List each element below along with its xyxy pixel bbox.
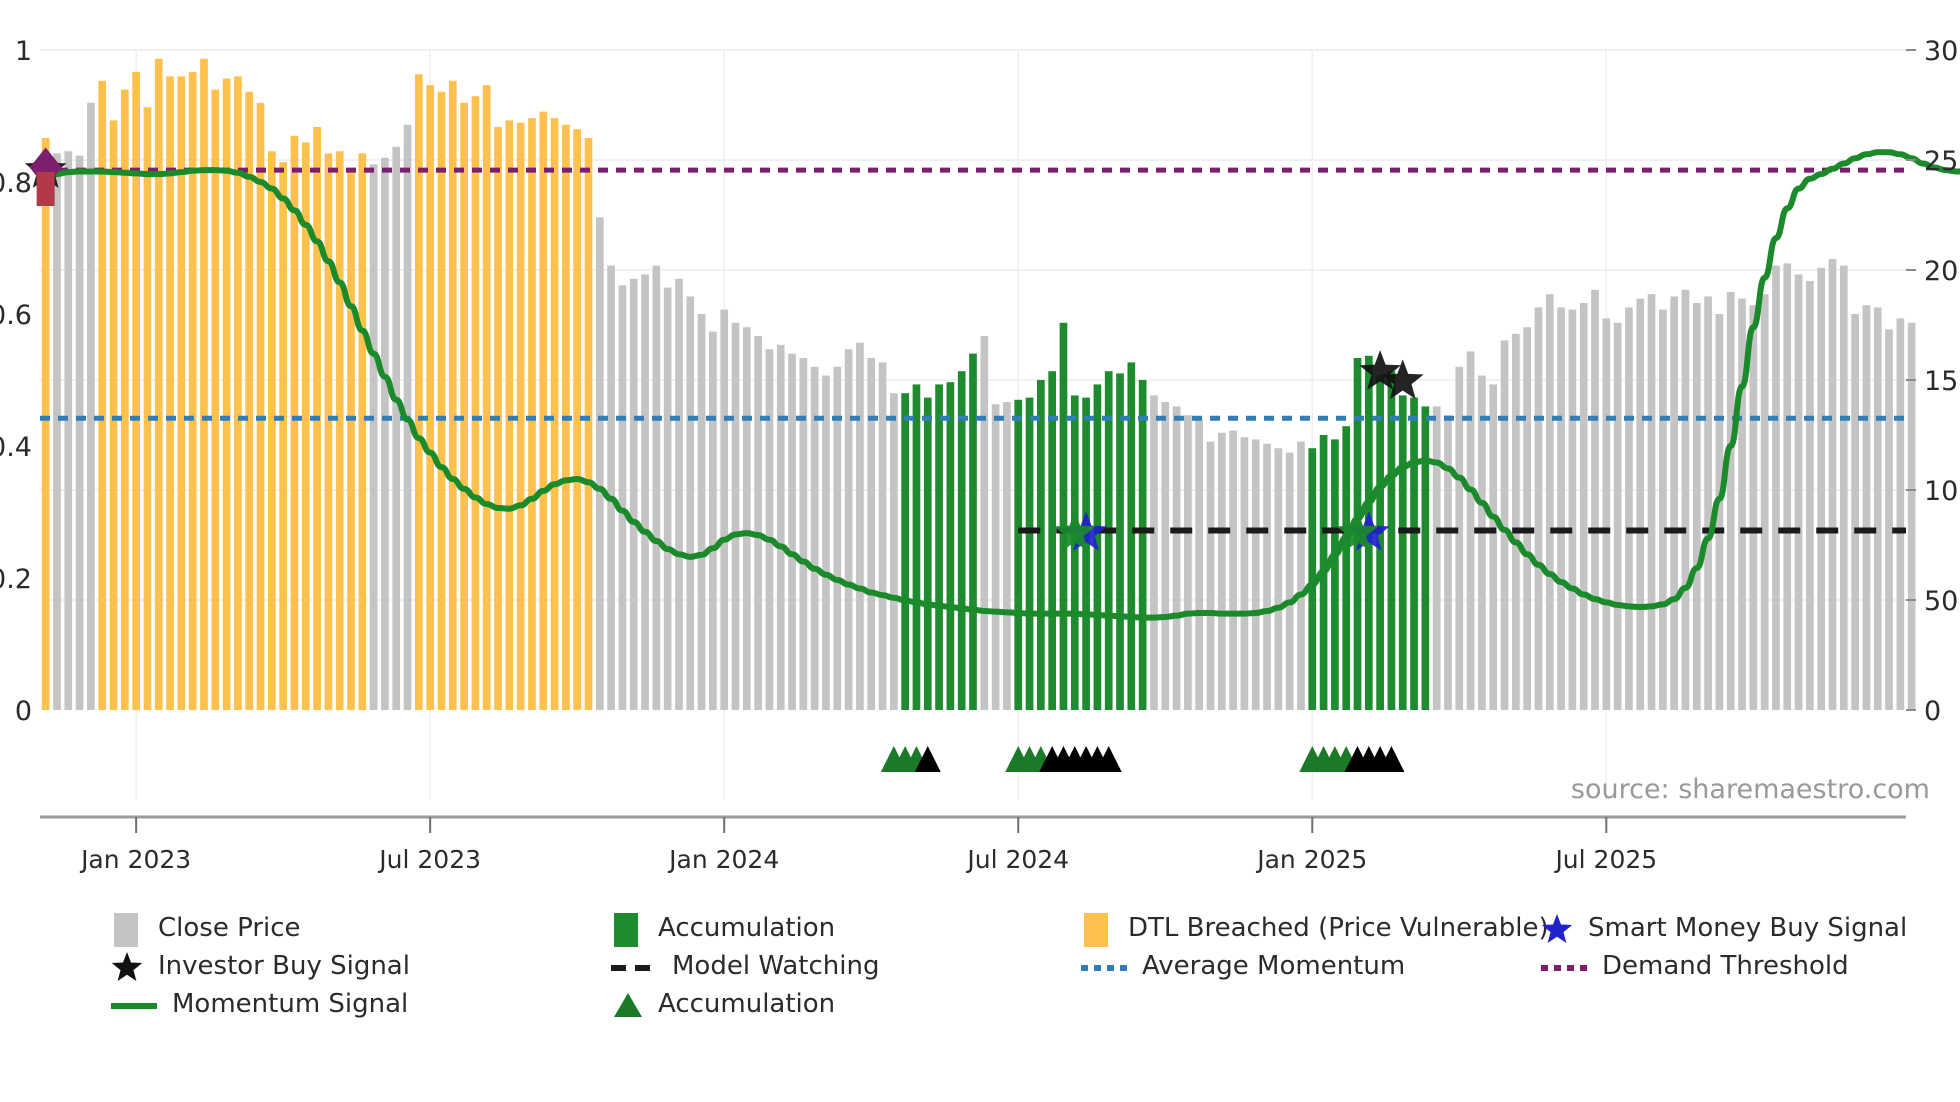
legend-label-accumulation-bar: Accumulation — [658, 913, 835, 943]
legend-swatch-square-icon — [1080, 911, 1114, 945]
legend-solid-line-icon — [110, 987, 158, 1021]
right-tick-2500: 2500 — [1924, 146, 1960, 177]
legend-label-average-momentum: Average Momentum — [1142, 951, 1405, 981]
left-tick-0.6: 0.6 — [0, 300, 32, 331]
left-tick-0.2: 0.2 — [0, 564, 32, 595]
x-tick-jul-2025: Jul 2025 — [1553, 845, 1657, 874]
x-tick-jan-2025: Jan 2025 — [1255, 845, 1367, 874]
x-tick-jul-2024: Jul 2024 — [965, 845, 1069, 874]
chart-page: 00.20.40.60.81 050010001500200025003000 … — [0, 0, 1960, 1102]
right-tick-0: 0 — [1924, 696, 1941, 727]
legend-label-close-price: Close Price — [158, 913, 301, 943]
left-tick-0: 0 — [15, 696, 32, 727]
legend-item-close-price[interactable]: Close Price — [110, 911, 301, 945]
legend-label-dtl-breached: DTL Breached (Price Vulnerable) — [1128, 913, 1549, 943]
legend-star-icon — [1540, 911, 1574, 945]
legend-dotted-line-icon — [1080, 949, 1128, 983]
right-tick-2000: 2000 — [1924, 256, 1960, 287]
legend-label-investor-buy-signal: Investor Buy Signal — [158, 951, 410, 981]
right-tick-1000: 1000 — [1924, 476, 1960, 507]
legend-label-model-watching: Model Watching — [672, 951, 879, 981]
x-tick-jan-2023: Jan 2023 — [79, 845, 191, 874]
legend-dotted-line-icon — [1540, 949, 1588, 983]
left-tick-0.8: 0.8 — [0, 168, 32, 199]
legend-item-dtl-breached[interactable]: DTL Breached (Price Vulnerable) — [1080, 911, 1549, 945]
legend-item-accumulation-bar[interactable]: Accumulation — [610, 911, 835, 945]
legend-dashed-line-icon — [610, 949, 658, 983]
legend-swatch-square-icon — [610, 911, 644, 945]
legend-item-accumulation-triangle[interactable]: Accumulation — [610, 987, 835, 1021]
right-tick-3000: 3000 — [1924, 36, 1960, 67]
x-tick-jul-2023: Jul 2023 — [377, 845, 481, 874]
legend-swatch-square-icon — [110, 911, 144, 945]
legend-item-momentum-signal[interactable]: Momentum Signal — [110, 987, 408, 1021]
legend-label-accumulation-triangle: Accumulation — [658, 989, 835, 1019]
legend-triangle-icon — [610, 987, 644, 1021]
legend-label-smart-money-buy-signal: Smart Money Buy Signal — [1588, 913, 1907, 943]
legend-item-model-watching[interactable]: Model Watching — [610, 949, 879, 983]
right-tick-1500: 1500 — [1924, 366, 1960, 397]
legend-item-average-momentum[interactable]: Average Momentum — [1080, 949, 1405, 983]
legend-label-demand-threshold: Demand Threshold — [1602, 951, 1849, 981]
legend-item-demand-threshold[interactable]: Demand Threshold — [1540, 949, 1849, 983]
right-tick-500: 500 — [1924, 586, 1960, 617]
legend-item-investor-buy-signal[interactable]: Investor Buy Signal — [110, 949, 410, 983]
source-attribution: source: sharemaestro.com — [1571, 774, 1930, 805]
legend-star-icon — [110, 949, 144, 983]
legend-label-momentum-signal: Momentum Signal — [172, 989, 408, 1019]
left-tick-0.4: 0.4 — [0, 432, 32, 463]
left-tick-1: 1 — [15, 36, 32, 67]
legend-item-smart-money-buy-signal[interactable]: Smart Money Buy Signal — [1540, 911, 1907, 945]
x-tick-jan-2024: Jan 2024 — [667, 845, 779, 874]
